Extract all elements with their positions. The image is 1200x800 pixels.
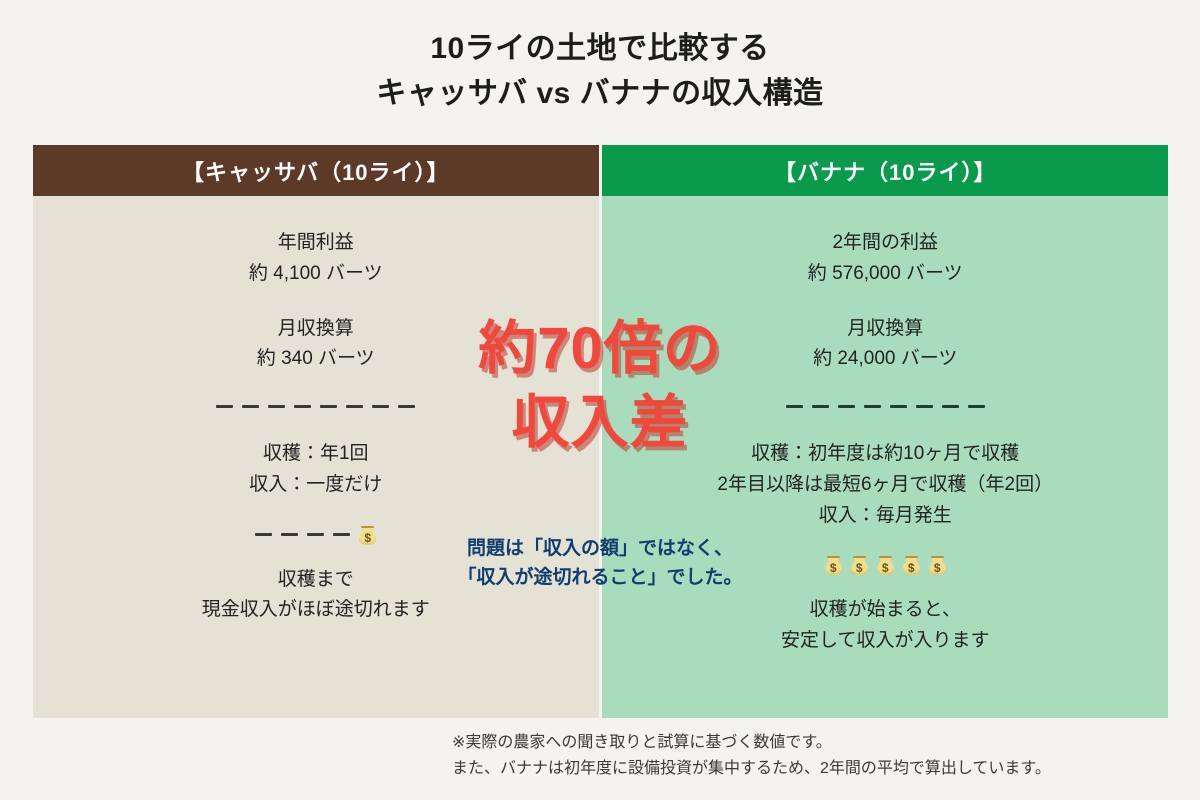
banana-profit-label: 2年間の利益 xyxy=(602,228,1168,259)
banana-monthly-value: 約 24,000 バーツ xyxy=(602,344,1168,375)
cassava-monthly-group: 月収換算 約 340 バーツ xyxy=(33,314,599,376)
banana-detail-list: 収穫：初年度は約10ヶ月で収穫 2年目以降は最短6ヶ月で収穫（年2回） 収入：毎… xyxy=(602,439,1168,531)
banana-divider xyxy=(602,399,1168,413)
banana-monthly-group: 月収換算 約 24,000 バーツ xyxy=(602,314,1168,376)
dash-segment xyxy=(786,405,803,408)
panel-cassava-header: 【キャッサバ（10ライ）】 xyxy=(33,145,599,196)
panel-cassava-body: 年間利益 約 4,100 バーツ 月収換算 約 340 バーツ 収穫：年1回 収… xyxy=(33,196,599,718)
dash-segment xyxy=(346,405,363,408)
cassava-detail-line: 収穫：年1回 xyxy=(33,439,599,470)
dash-segment xyxy=(372,405,389,408)
panel-banana-body: 2年間の利益 約 576,000 バーツ 月収換算 約 24,000 バーツ 収… xyxy=(602,196,1168,718)
dash-segment xyxy=(294,405,311,408)
title-line-1: 10ライの土地で比較する xyxy=(0,26,1200,71)
footnote: ※実際の農家への聞き取りと試算に基づく数値です。 また、バナナは初年度に設備投資… xyxy=(452,730,1192,781)
center-note-line-1: 問題は「収入の額」ではなく、 xyxy=(0,534,1200,563)
dash-segment xyxy=(838,405,855,408)
cassava-divider xyxy=(33,399,599,413)
dash-segment xyxy=(942,405,959,408)
dash-segment xyxy=(812,405,829,408)
title-line-2: キャッサバ vs バナナの収入構造 xyxy=(0,71,1200,116)
cassava-monthly-label: 月収換算 xyxy=(33,314,599,345)
dash-segment xyxy=(890,405,907,408)
cassava-summary-line: 現金収入がほぼ途切れます xyxy=(33,595,599,626)
comparison-table: 【キャッサバ（10ライ）】 年間利益 約 4,100 バーツ 月収換算 約 34… xyxy=(33,145,1168,718)
dash-segment xyxy=(216,405,233,408)
cassava-detail-line: 収入：一度だけ xyxy=(33,470,599,501)
center-note-line-2: 「収入が途切れること」でした。 xyxy=(0,563,1200,592)
banana-summary-line: 収穫が始まると、 xyxy=(602,595,1168,626)
panel-cassava: 【キャッサバ（10ライ）】 年間利益 約 4,100 バーツ 月収換算 約 34… xyxy=(33,145,599,718)
cassava-profit-value: 約 4,100 バーツ xyxy=(33,259,599,290)
page-title: 10ライの土地で比較する キャッサバ vs バナナの収入構造 xyxy=(0,26,1200,116)
banana-detail-line: 2年目以降は最短6ヶ月で収穫（年2回） xyxy=(602,470,1168,501)
footnote-line-2: また、バナナは初年度に設備投資が集中するため、2年間の平均で算出しています。 xyxy=(452,756,1192,782)
cassava-profit-label: 年間利益 xyxy=(33,228,599,259)
dash-segment xyxy=(916,405,933,408)
banana-profit-value: 約 576,000 バーツ xyxy=(602,259,1168,290)
panel-banana: 【バナナ（10ライ）】 2年間の利益 約 576,000 バーツ 月収換算 約 … xyxy=(602,145,1168,718)
cassava-detail-list: 収穫：年1回 収入：一度だけ xyxy=(33,439,599,501)
banana-monthly-label: 月収換算 xyxy=(602,314,1168,345)
banana-summary: 収穫が始まると、 安定して収入が入ります xyxy=(602,595,1168,657)
dash-segment xyxy=(864,405,881,408)
banana-profit-group: 2年間の利益 約 576,000 バーツ xyxy=(602,228,1168,290)
cassava-profit-group: 年間利益 約 4,100 バーツ xyxy=(33,228,599,290)
banana-summary-line: 安定して収入が入ります xyxy=(602,626,1168,657)
center-note: 問題は「収入の額」ではなく、 「収入が途切れること」でした。 xyxy=(0,534,1200,593)
banana-detail-line: 収穫：初年度は約10ヶ月で収穫 xyxy=(602,439,1168,470)
banana-detail-line: 収入：毎月発生 xyxy=(602,501,1168,532)
cassava-monthly-value: 約 340 バーツ xyxy=(33,344,599,375)
dash-segment xyxy=(398,405,415,408)
footnote-line-1: ※実際の農家への聞き取りと試算に基づく数値です。 xyxy=(452,730,1192,756)
dash-segment xyxy=(268,405,285,408)
dash-segment xyxy=(320,405,337,408)
panel-banana-header: 【バナナ（10ライ）】 xyxy=(602,145,1168,196)
dash-segment xyxy=(968,405,985,408)
dash-segment xyxy=(242,405,259,408)
